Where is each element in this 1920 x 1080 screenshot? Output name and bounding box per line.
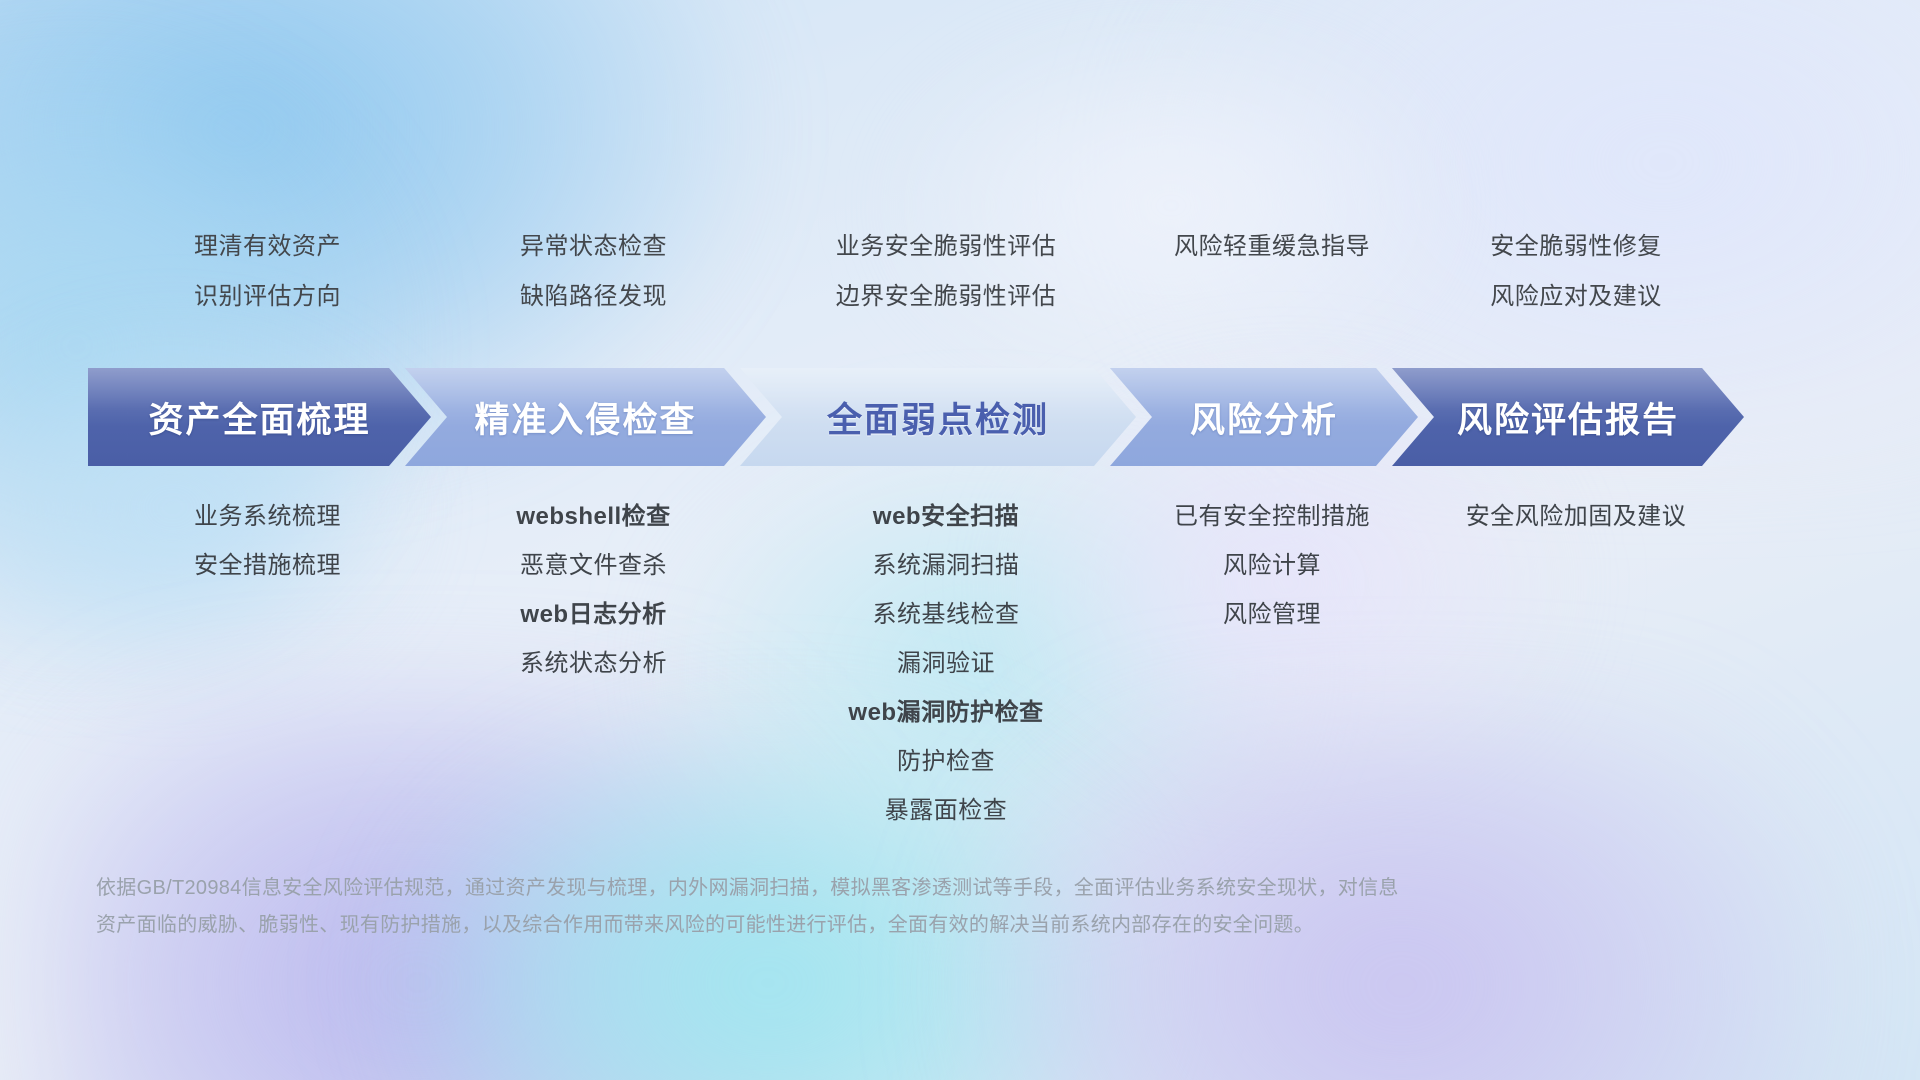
bottom-detail-item: 风险管理 bbox=[1223, 590, 1321, 639]
bottom-detail-item: web日志分析 bbox=[520, 590, 666, 639]
top-annotation-item: 识别评估方向 bbox=[194, 272, 341, 322]
process-step-5[interactable]: 风险评估报告 bbox=[1392, 368, 1744, 466]
bottom-detail-group-3: web安全扫描系统漏洞扫描系统基线检查漏洞验证web漏洞防护检查防护检查暴露面检… bbox=[748, 492, 1144, 835]
process-step-2[interactable]: 精准入侵检查 bbox=[405, 368, 766, 466]
footer-line-2: 资产面临的威胁、脆弱性、现有防护措施，以及综合作用而带来风险的可能性进行评估，全… bbox=[96, 907, 1636, 944]
bottom-detail-item: web安全扫描 bbox=[873, 492, 1019, 541]
bottom-detail-row: 业务系统梳理安全措施梳理webshell检查恶意文件查杀web日志分析系统状态分… bbox=[96, 492, 1856, 835]
bottom-detail-group-1: 业务系统梳理安全措施梳理 bbox=[96, 492, 439, 590]
top-annotation-item: 安全脆弱性修复 bbox=[1490, 222, 1662, 272]
process-step-3[interactable]: 全面弱点检测 bbox=[740, 368, 1136, 466]
top-annotation-group-4: 风险轻重缓急指导 bbox=[1118, 222, 1426, 322]
top-annotation-group-2: 异常状态检查缺陷路径发现 bbox=[413, 222, 774, 322]
top-annotation-item: 理清有效资产 bbox=[194, 222, 341, 272]
process-step-1[interactable]: 资产全面梳理 bbox=[88, 368, 431, 466]
bottom-detail-item: 系统漏洞扫描 bbox=[873, 541, 1020, 590]
process-step-label: 风险评估报告 bbox=[1457, 392, 1679, 443]
top-annotation-group-1: 理清有效资产识别评估方向 bbox=[96, 222, 439, 322]
bottom-detail-item: 漏洞验证 bbox=[897, 639, 995, 688]
top-annotation-item: 风险轻重缓急指导 bbox=[1174, 222, 1370, 272]
top-annotation-item: 异常状态检查 bbox=[520, 222, 667, 272]
process-step-4[interactable]: 风险分析 bbox=[1110, 368, 1418, 466]
bottom-detail-item: 风险计算 bbox=[1223, 541, 1321, 590]
bottom-detail-item: 安全风险加固及建议 bbox=[1466, 492, 1687, 541]
bottom-detail-group-2: webshell检查恶意文件查杀web日志分析系统状态分析 bbox=[413, 492, 774, 688]
process-step-label: 资产全面梳理 bbox=[148, 392, 370, 443]
top-annotations-row: 理清有效资产识别评估方向异常状态检查缺陷路径发现业务安全脆弱性评估边界安全脆弱性… bbox=[96, 222, 1856, 322]
bottom-detail-group-4: 已有安全控制措施风险计算风险管理 bbox=[1118, 492, 1426, 639]
bottom-detail-item: 已有安全控制措施 bbox=[1174, 492, 1370, 541]
process-step-label: 全面弱点检测 bbox=[827, 392, 1049, 443]
footer-description: 依据GB/T20984信息安全风险评估规范，通过资产发现与梳理，内外网漏洞扫描，… bbox=[96, 870, 1636, 944]
bottom-detail-item: 系统状态分析 bbox=[520, 639, 667, 688]
process-chevron-band: 资产全面梳理精准入侵检查全面弱点检测风险分析风险评估报告 bbox=[88, 368, 1848, 466]
bottom-detail-item: 业务系统梳理 bbox=[194, 492, 341, 541]
bottom-detail-item: 暴露面检查 bbox=[885, 786, 1008, 835]
process-step-label: 风险分析 bbox=[1190, 392, 1338, 443]
bottom-detail-item: 系统基线检查 bbox=[873, 590, 1020, 639]
footer-line-1: 依据GB/T20984信息安全风险评估规范，通过资产发现与梳理，内外网漏洞扫描，… bbox=[96, 870, 1636, 907]
bottom-detail-item: 安全措施梳理 bbox=[194, 541, 341, 590]
bottom-detail-item: 防护检查 bbox=[897, 737, 995, 786]
process-diagram: 理清有效资产识别评估方向异常状态检查缺陷路径发现业务安全脆弱性评估边界安全脆弱性… bbox=[0, 0, 1920, 1080]
bottom-detail-item: 恶意文件查杀 bbox=[520, 541, 667, 590]
bottom-detail-item: web漏洞防护检查 bbox=[848, 688, 1043, 737]
top-annotation-group-5: 安全脆弱性修复风险应对及建议 bbox=[1400, 222, 1752, 322]
top-annotation-group-3: 业务安全脆弱性评估边界安全脆弱性评估 bbox=[748, 222, 1144, 322]
bottom-detail-group-5: 安全风险加固及建议 bbox=[1400, 492, 1752, 541]
top-annotation-item: 边界安全脆弱性评估 bbox=[836, 272, 1057, 322]
bottom-detail-item: webshell检查 bbox=[516, 492, 670, 541]
top-annotation-item: 业务安全脆弱性评估 bbox=[836, 222, 1057, 272]
process-step-label: 精准入侵检查 bbox=[474, 392, 696, 443]
top-annotation-item: 缺陷路径发现 bbox=[520, 272, 667, 322]
top-annotation-item: 风险应对及建议 bbox=[1490, 272, 1662, 322]
